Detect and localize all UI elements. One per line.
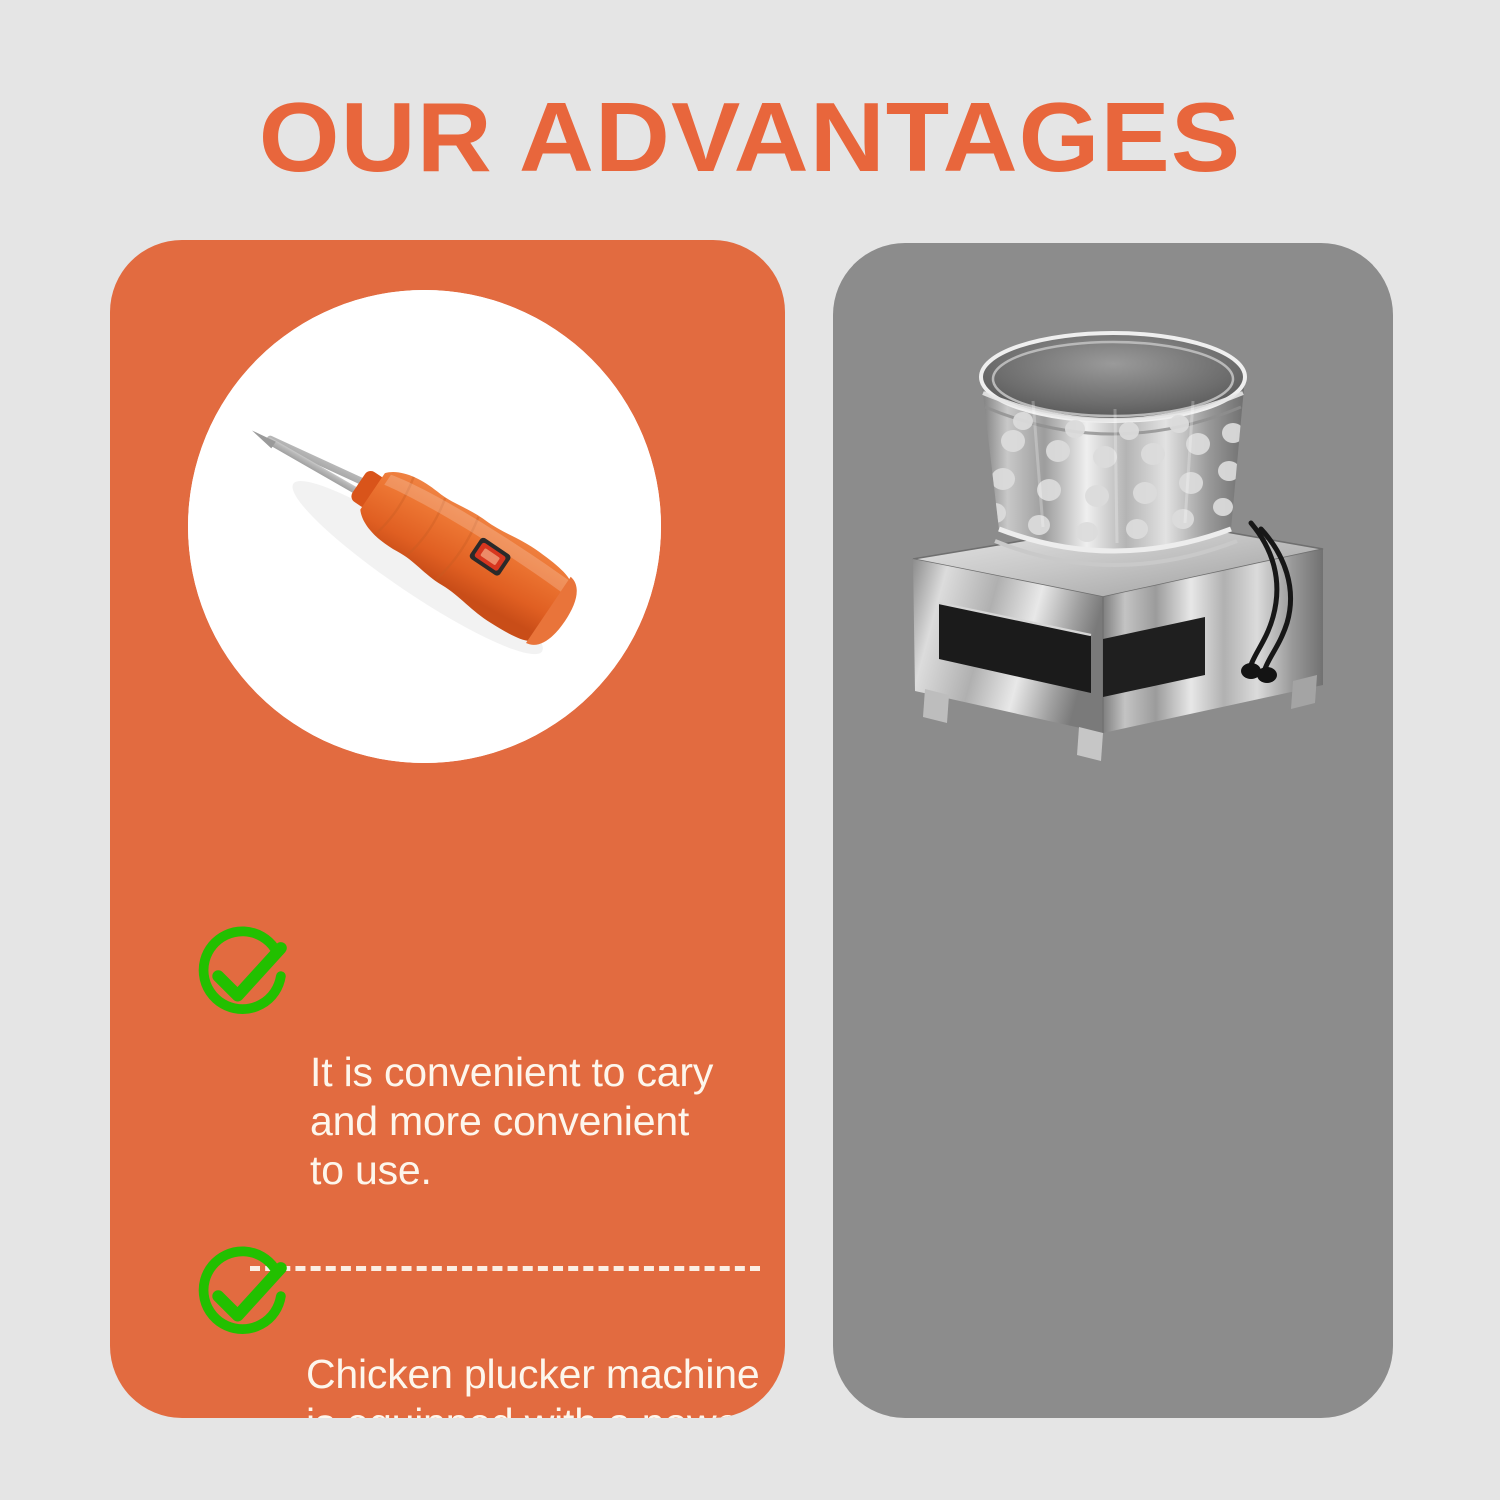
check-circle-icon	[188, 920, 296, 1028]
check-circle-icon	[188, 1240, 296, 1348]
advantage-text-1: It is convenient to cary and more conven…	[310, 1048, 785, 1194]
advantages-card: It is convenient to cary and more conven…	[110, 240, 785, 1418]
infographic-root: OUR ADVANTAGES	[0, 0, 1500, 1500]
industrial-drum-plucker-photo	[853, 261, 1373, 771]
advantage-text-2: Chicken plucker machine is equipped with…	[306, 1350, 785, 1418]
disadvantages-card: The product's large size makes it inconv…	[833, 243, 1393, 1418]
page-title: OUR ADVANTAGES	[0, 86, 1500, 189]
card-divider	[250, 1266, 760, 1271]
handheld-chicken-plucker-photo	[188, 290, 661, 763]
